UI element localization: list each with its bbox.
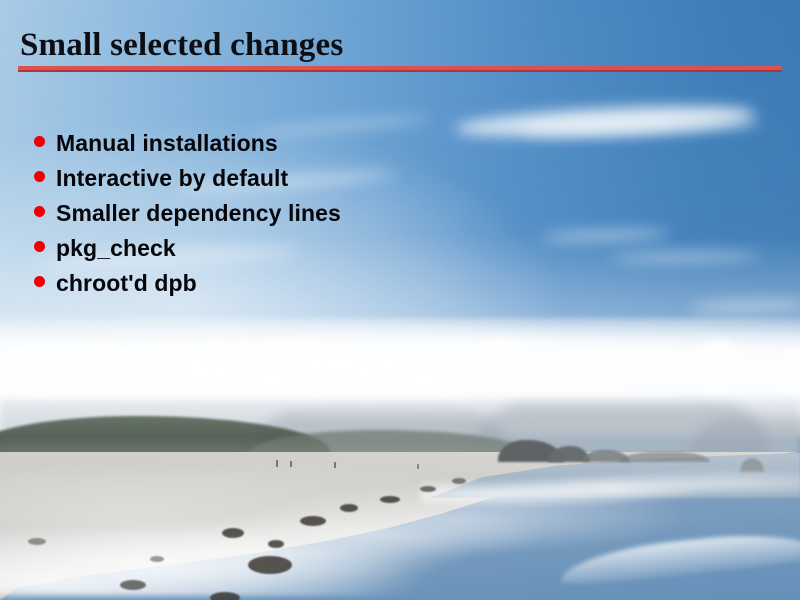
- bullet-label: Smaller dependency lines: [56, 202, 341, 225]
- seaweed-clump: [268, 540, 284, 548]
- cloud-bank-detail: [0, 330, 800, 390]
- bullet-dot-icon: [34, 206, 45, 217]
- seaweed-clump: [380, 496, 400, 503]
- bullet-item: Smaller dependency lines: [34, 202, 341, 237]
- seaweed-clump: [452, 478, 466, 484]
- slide: Small selected changes Manual installati…: [0, 0, 800, 600]
- bullet-dot-icon: [34, 171, 45, 182]
- seaweed-clump: [300, 516, 326, 526]
- bullet-item: Manual installations: [34, 132, 341, 167]
- seaweed-clump: [248, 556, 292, 574]
- surf-foam-distant: [420, 470, 800, 510]
- slide-title: Small selected changes: [20, 26, 343, 64]
- distant-person: [276, 460, 278, 467]
- bullet-dot-icon: [34, 136, 45, 147]
- bullet-list: Manual installations Interactive by defa…: [34, 132, 341, 307]
- bullet-label: chroot'd dpb: [56, 272, 197, 295]
- bullet-label: Interactive by default: [56, 167, 288, 190]
- title-divider: [18, 66, 782, 72]
- bullet-label: Manual installations: [56, 132, 278, 155]
- bullet-label: pkg_check: [56, 237, 176, 260]
- bullet-item: Interactive by default: [34, 167, 341, 202]
- distant-person: [334, 462, 336, 468]
- bullet-dot-icon: [34, 276, 45, 287]
- distant-person: [417, 464, 419, 469]
- seaweed-clump: [210, 592, 240, 600]
- bullet-dot-icon: [34, 241, 45, 252]
- seaweed-clump: [150, 556, 164, 562]
- seaweed-clump: [222, 528, 244, 538]
- seaweed-clump: [28, 538, 46, 545]
- seaweed-clump: [420, 486, 436, 492]
- seaweed-clump: [120, 580, 146, 590]
- seaweed-clump: [340, 504, 358, 512]
- bullet-item: pkg_check: [34, 237, 341, 272]
- bullet-item: chroot'd dpb: [34, 272, 341, 307]
- distant-person: [290, 461, 292, 467]
- rock-outcrop: [620, 452, 710, 462]
